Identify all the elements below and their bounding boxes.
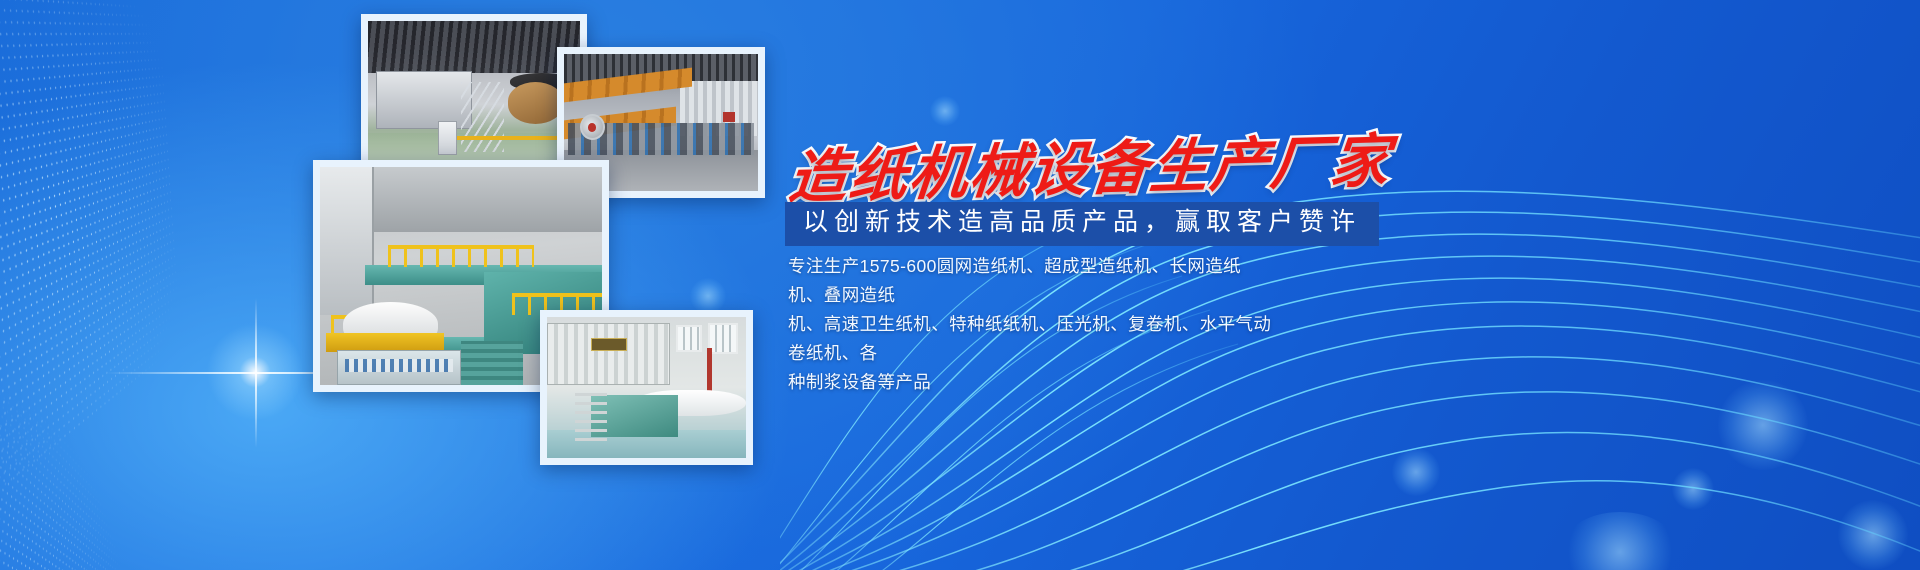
- photo-detail: [461, 82, 503, 152]
- photo-detail: [547, 323, 670, 385]
- photo-detail: [580, 114, 605, 140]
- bokeh-orb: [690, 278, 726, 314]
- dot-matrix-pattern-secondary: [0, 206, 127, 570]
- description-line: 种制浆设备等产品: [788, 368, 1275, 397]
- photo-detail: [320, 167, 374, 315]
- description-line: 专注生产1575-600圆网造纸机、超成型造纸机、长网造纸机、叠网造纸: [788, 252, 1275, 310]
- bokeh-orb: [1838, 500, 1908, 570]
- banner-subtitle: 以创新技术造高品质产品，赢取客户赞许: [803, 209, 1361, 237]
- light-flare-glow: [205, 322, 305, 422]
- bokeh-orb: [930, 96, 960, 126]
- banner-subtitle-band: 以创新技术造高品质产品，赢取客户赞许: [785, 202, 1379, 246]
- photo-detail: [368, 21, 580, 73]
- photo-paper-machine-factory-hall: [361, 14, 587, 180]
- photo-detail: [438, 121, 457, 154]
- star-flare-icon: [255, 372, 257, 374]
- bokeh-orb: [1392, 448, 1440, 496]
- bokeh-orb: [1718, 380, 1808, 470]
- photo-detail: [461, 341, 523, 385]
- description-line: 机、高速卫生纸机、特种纸纸机、压光机、复卷机、水平气动卷纸机、各: [788, 310, 1275, 368]
- photo-detail: [723, 112, 735, 123]
- dot-matrix-pattern: [0, 0, 181, 570]
- photo-detail: [591, 338, 627, 351]
- photo-detail: [376, 71, 471, 129]
- photo-detail: [575, 390, 607, 441]
- photo-detail: [708, 323, 738, 354]
- banner-description: 专注生产1575-600圆网造纸机、超成型造纸机、长网造纸机、叠网造纸 机、高速…: [788, 252, 1275, 397]
- photo-detail: [388, 245, 535, 267]
- photo-detail: [508, 82, 563, 125]
- banner-headline: 造纸机械设备生产厂家: [786, 133, 1393, 208]
- photo-detail: [676, 325, 702, 352]
- bokeh-orb: [1672, 468, 1714, 510]
- promo-banner: 造纸机械设备生产厂家 以创新技术造高品质产品，赢取客户赞许 专注生产1575-6…: [0, 0, 1920, 570]
- photo-detail: [337, 350, 461, 385]
- bokeh-orb: [1560, 512, 1680, 570]
- photo-detail: [707, 348, 712, 396]
- photo-detail: [371, 167, 602, 232]
- photo-tissue-paper-machine-workshop: [540, 310, 753, 465]
